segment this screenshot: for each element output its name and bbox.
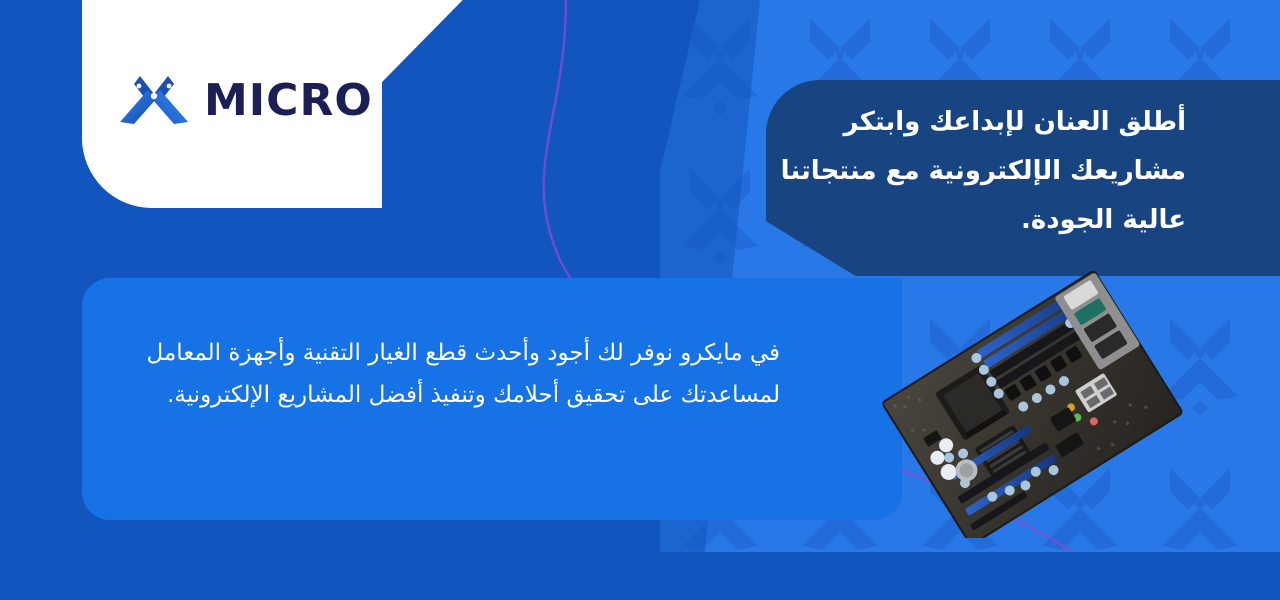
micro-m-mark-icon bbox=[118, 72, 190, 128]
background-bottom-strip bbox=[0, 552, 1280, 600]
brand-logo[interactable]: MICRO bbox=[118, 72, 373, 128]
promo-banner: MICRO أطلق العنان لإبداعك وابتكر مشاريعك… bbox=[0, 0, 1280, 600]
body-text: في مايكرو نوفر لك أجود وأحدث قطع الغيار … bbox=[130, 332, 780, 416]
brand-wordmark: MICRO bbox=[204, 75, 373, 126]
headline-text: أطلق العنان لإبداعك وابتكر مشاريعك الإلك… bbox=[766, 98, 1186, 245]
motherboard-photo bbox=[862, 268, 1192, 538]
product-image bbox=[862, 268, 1192, 538]
